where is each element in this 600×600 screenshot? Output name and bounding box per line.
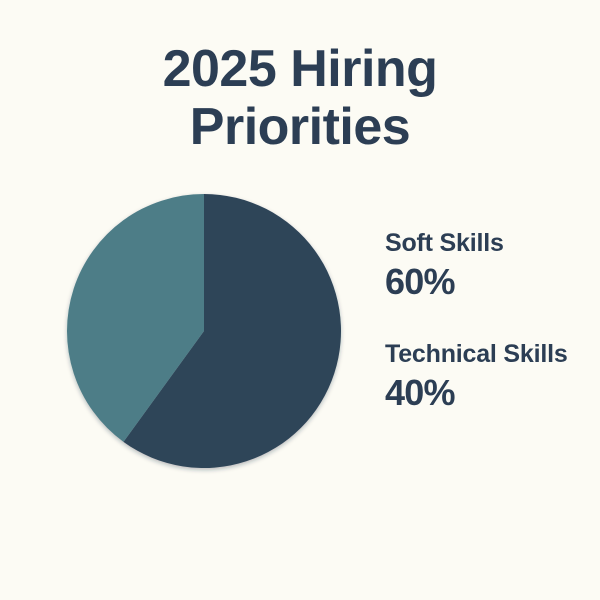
- infographic-canvas: 2025 Hiring Priorities Soft Skills 60% T…: [0, 0, 600, 600]
- legend-value-technical-skills: 40%: [385, 372, 575, 414]
- legend-label-technical-skills: Technical Skills: [385, 339, 575, 370]
- pie-chart: [67, 194, 341, 468]
- legend-value-soft-skills: 60%: [385, 261, 575, 303]
- title-line-1: 2025 Hiring: [0, 40, 600, 98]
- legend-label-soft-skills: Soft Skills: [385, 228, 575, 259]
- page-title: 2025 Hiring Priorities: [0, 40, 600, 156]
- title-line-2: Priorities: [0, 98, 600, 156]
- legend-item-soft-skills[interactable]: Soft Skills 60%: [385, 228, 575, 303]
- pie-chart-svg: [67, 194, 341, 468]
- pie-slice-group: [67, 194, 341, 468]
- legend-item-technical-skills[interactable]: Technical Skills 40%: [385, 339, 575, 414]
- legend: Soft Skills 60% Technical Skills 40%: [385, 228, 575, 414]
